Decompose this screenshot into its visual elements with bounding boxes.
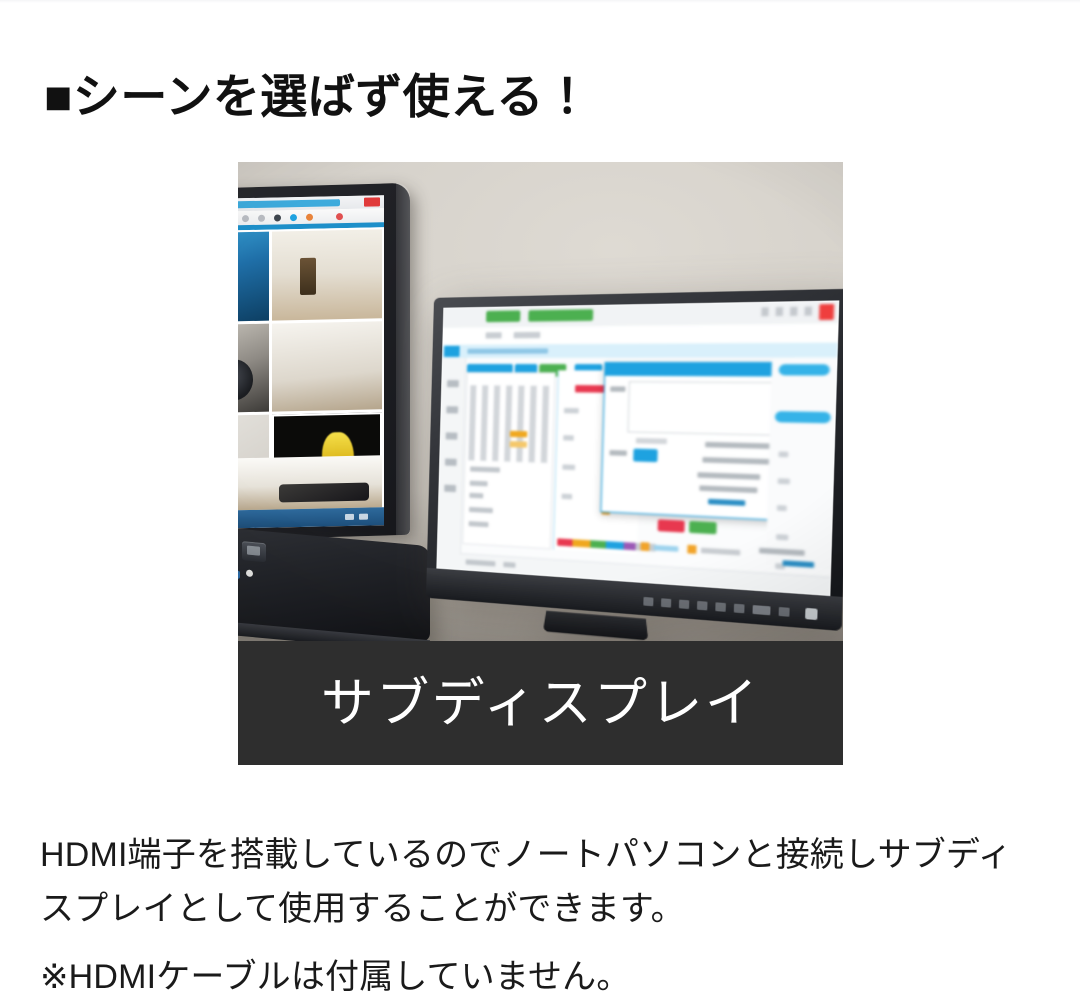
- app-subbar-item: [514, 332, 541, 338]
- dialog-titlebar: [605, 363, 794, 377]
- dialog-text-area: [627, 381, 784, 436]
- app-window-controls: [761, 307, 814, 317]
- laptop-base-front-edge: [238, 614, 430, 641]
- figure-caption-text: サブディスプレイ: [321, 677, 760, 730]
- dialog-action-button: [633, 449, 658, 463]
- gallery-thumbnail: [238, 455, 382, 512]
- app-modal-dialog: [600, 362, 796, 521]
- section-heading: ■シーンを選ばず使える！: [44, 69, 1004, 124]
- portable-monitor-device: [426, 289, 843, 631]
- product-photo: [238, 162, 843, 641]
- monitor-screen: [436, 300, 839, 596]
- dialog-cancel-button: [689, 521, 717, 534]
- calendar-highlight: [510, 441, 527, 448]
- sidebar-icon: [444, 485, 456, 493]
- dialog-select: [636, 438, 667, 444]
- app-attachment-icon: [640, 542, 649, 551]
- app-close-icon: [819, 304, 834, 320]
- app-attachment-label: [654, 545, 679, 552]
- laptop-key: [242, 541, 266, 562]
- toolbar-icon: [290, 214, 297, 221]
- sidebar-icon: [445, 458, 457, 465]
- feature-note-paragraph: ※HDMIケーブルは付属していません。: [40, 952, 1040, 1003]
- product-figure: サブディスプレイ: [238, 162, 843, 765]
- calendar-footer-line: [469, 493, 483, 499]
- laptop-touchpad: [238, 567, 240, 579]
- statusbar-item: [466, 559, 496, 566]
- app-attachment-label: [701, 548, 740, 556]
- laptop-status-led: [246, 569, 253, 577]
- right-panel-button: [779, 364, 830, 375]
- toolbar-icon: [336, 213, 343, 220]
- feature-description-paragraph: HDMI端子を搭載しているのでノートパソコンと接続しサブディスプレイとして使用す…: [40, 829, 1040, 936]
- laptop-screen: [238, 195, 384, 530]
- product-feature-page: ■シーンを選ばず使える！: [0, 0, 1080, 999]
- dialog-info-line: [702, 457, 770, 465]
- schedule-row: [564, 408, 579, 413]
- gallery-thumbnail: [238, 323, 269, 414]
- app-toolbar-button: [486, 310, 520, 322]
- right-panel-row: [777, 505, 787, 511]
- dialog-field-label: [609, 450, 626, 456]
- calendar-day-grid: [468, 385, 551, 463]
- schedule-row: [563, 435, 574, 440]
- toolbar-icon: [242, 215, 249, 222]
- monitor-bezel: [426, 289, 843, 631]
- calendar-footer-line: [469, 521, 489, 527]
- monitor-power-button[interactable]: [805, 608, 818, 620]
- app-attachment-icon: [687, 545, 696, 554]
- laptop-browser-close-icon: [364, 197, 380, 206]
- right-panel-row: [776, 534, 788, 540]
- app-calendar-panel: [462, 372, 555, 549]
- laptop-browser-address-bar: [238, 199, 340, 209]
- sidebar-icon: [447, 380, 459, 387]
- app-accent-badge: [444, 346, 460, 357]
- monitor-menu-button[interactable]: [643, 597, 653, 606]
- right-panel-button: [775, 411, 831, 423]
- gallery-thumbnail: [272, 321, 383, 412]
- monitor-plus-button[interactable]: [715, 602, 726, 612]
- toolbar-icon: [258, 215, 265, 222]
- monitor-app-ui: [436, 300, 839, 596]
- dialog-link: [708, 499, 745, 506]
- app-right-panel: [766, 360, 838, 569]
- sidebar-icon: [446, 406, 458, 413]
- gallery-thumbnail: [238, 232, 269, 323]
- sidebar-icon: [446, 432, 458, 439]
- calendar-highlight: [510, 431, 527, 438]
- laptop-device: [238, 190, 414, 641]
- calendar-footer-line: [469, 507, 493, 513]
- schedule-row: [562, 494, 573, 500]
- monitor-exit-button[interactable]: [753, 605, 771, 615]
- page-top-divider: [0, 0, 1080, 3]
- monitor-auto-button[interactable]: [779, 607, 790, 617]
- taskbar-icon: [345, 514, 354, 520]
- dialog-info-line: [699, 485, 757, 493]
- app-corner-link: [783, 560, 815, 568]
- app-subbar-item: [486, 332, 502, 338]
- dialog-field-label: [610, 386, 625, 391]
- right-panel-row: [779, 451, 789, 457]
- laptop-base: [238, 520, 430, 641]
- taskbar-icon: [359, 514, 368, 520]
- gallery-thumbnail: [272, 229, 383, 320]
- figure-caption-band: サブディスプレイ: [238, 641, 843, 765]
- app-accent-text: [467, 348, 548, 353]
- laptop-lid-edge: [396, 183, 410, 535]
- statusbar-item: [503, 562, 515, 568]
- app-toolbar-button: [528, 309, 593, 321]
- dialog-info-line: [705, 442, 770, 449]
- monitor-minus-button[interactable]: [697, 601, 708, 611]
- monitor-down-button[interactable]: [679, 600, 689, 609]
- schedule-row: [562, 464, 575, 470]
- calendar-footer-line: [470, 481, 488, 487]
- toolbar-icon: [274, 214, 281, 221]
- monitor-up-button[interactable]: [661, 598, 671, 607]
- monitor-source-button[interactable]: [734, 604, 745, 614]
- right-panel-row: [778, 478, 790, 484]
- dialog-info-line: [697, 472, 760, 480]
- dialog-confirm-button: [658, 519, 685, 532]
- calendar-footer-line: [470, 466, 500, 472]
- toolbar-icon: [306, 214, 313, 221]
